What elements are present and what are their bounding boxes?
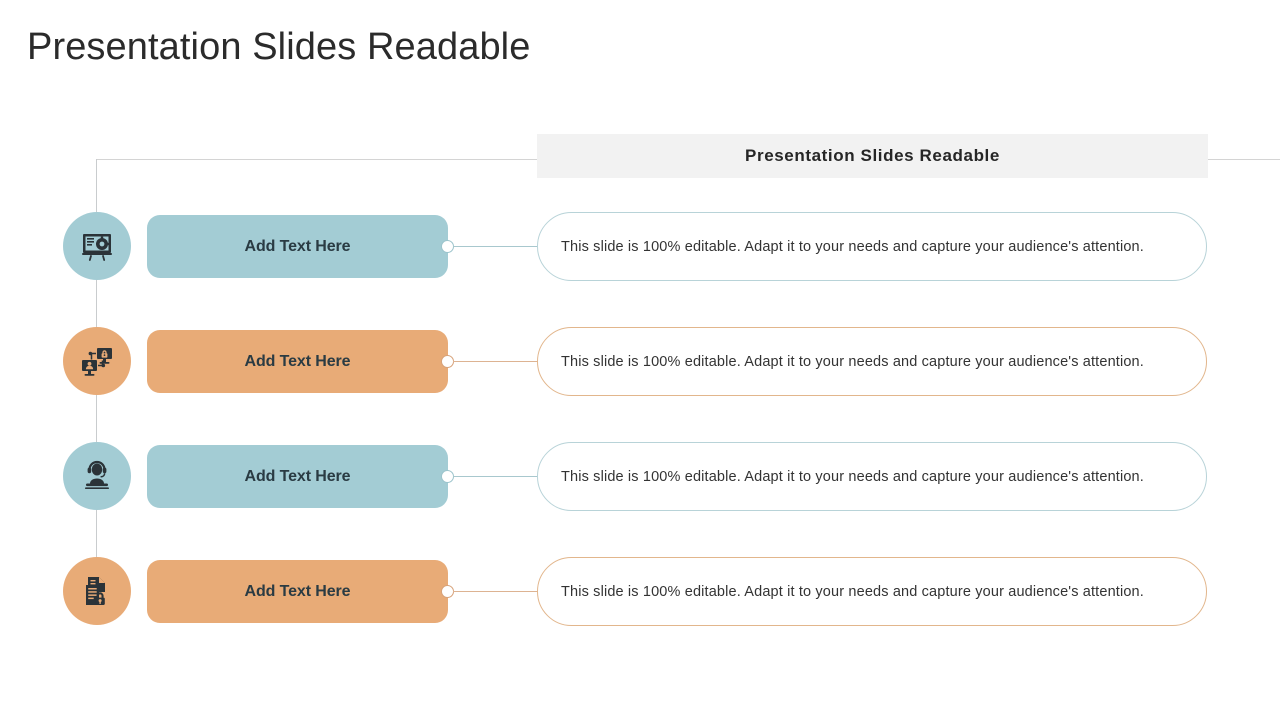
connector-line <box>453 246 538 247</box>
row-icon-badge[interactable] <box>63 327 131 395</box>
network-computers-lock-icon <box>79 343 115 379</box>
connector-line <box>453 476 538 477</box>
diagram-row: Add Text Here This slide is 100% editabl… <box>0 442 1280 512</box>
row-description-box[interactable]: This slide is 100% editable. Adapt it to… <box>537 442 1207 511</box>
row-icon-badge[interactable] <box>63 557 131 625</box>
diagram-row: Add Text Here This slide is 100% editabl… <box>0 327 1280 397</box>
row-icon-badge[interactable] <box>63 442 131 510</box>
diagram-row: Add Text Here This slide is 100% editabl… <box>0 212 1280 282</box>
row-label-pill[interactable]: Add Text Here <box>147 215 448 278</box>
row-description-box[interactable]: This slide is 100% editable. Adapt it to… <box>537 327 1207 396</box>
diagram-row: Add Text Here This slide is 100% editabl… <box>0 557 1280 627</box>
headset-agent-laptop-icon <box>79 458 115 494</box>
row-description-box[interactable]: This slide is 100% editable. Adapt it to… <box>537 557 1207 626</box>
row-description-box[interactable]: This slide is 100% editable. Adapt it to… <box>537 212 1207 281</box>
row-description-text: This slide is 100% editable. Adapt it to… <box>561 239 1144 255</box>
row-label-text: Add Text Here <box>245 468 351 486</box>
row-label-pill[interactable]: Add Text Here <box>147 330 448 393</box>
row-label-pill[interactable]: Add Text Here <box>147 560 448 623</box>
row-description-text: This slide is 100% editable. Adapt it to… <box>561 354 1144 370</box>
row-label-text: Add Text Here <box>245 238 351 256</box>
diagram-header-label: Presentation Slides Readable <box>745 146 1000 166</box>
document-lock-icon <box>79 573 115 609</box>
row-label-text: Add Text Here <box>245 583 351 601</box>
row-description-text: This slide is 100% editable. Adapt it to… <box>561 469 1144 485</box>
row-icon-badge[interactable] <box>63 212 131 280</box>
row-label-text: Add Text Here <box>245 353 351 371</box>
row-label-pill[interactable]: Add Text Here <box>147 445 448 508</box>
connector-line <box>453 591 538 592</box>
presentation-board-gear-icon <box>79 228 115 264</box>
diagram-header-band: Presentation Slides Readable <box>537 134 1208 178</box>
process-diagram: Presentation Slides Readable <box>0 0 1280 720</box>
connector-line <box>453 361 538 362</box>
row-description-text: This slide is 100% editable. Adapt it to… <box>561 584 1144 600</box>
